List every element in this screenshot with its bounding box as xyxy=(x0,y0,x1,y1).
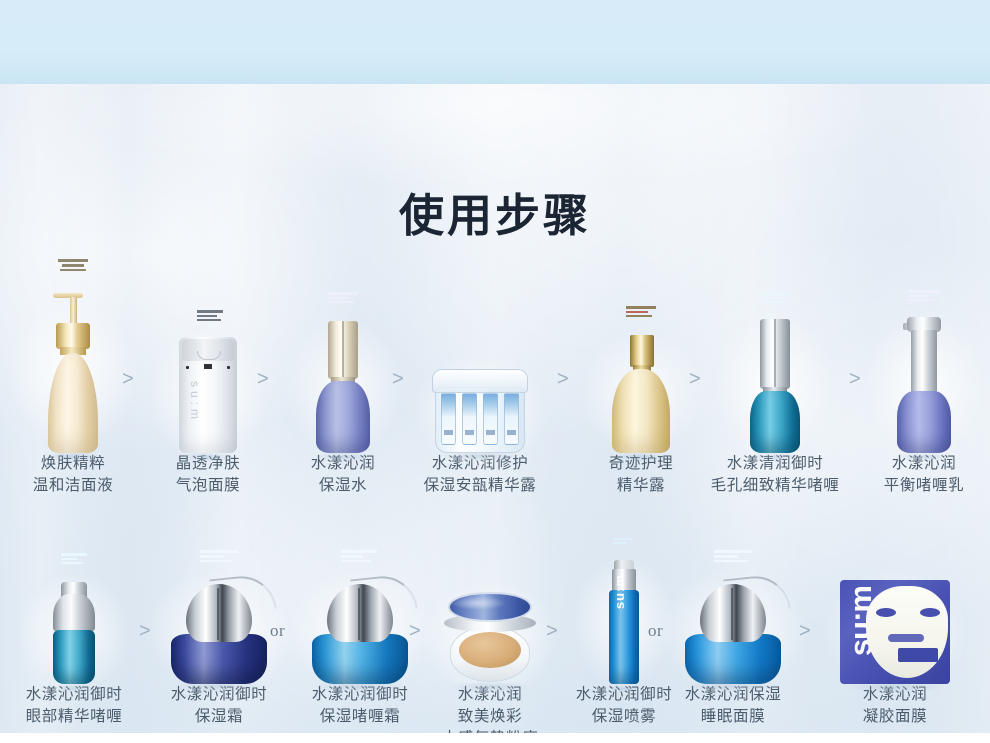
step-item-9[interactable]: 水漾沁润御时 保湿霜 xyxy=(152,534,286,728)
step-item-2[interactable]: su:m 晶透净肤 气泡面膜 xyxy=(143,281,273,497)
step-connector-arrow-1: > xyxy=(122,369,134,389)
step-connector-arrow-2: > xyxy=(257,369,269,389)
step-caption-line2: 凝胶面膜 xyxy=(820,706,970,728)
step-caption-line2: 毛孔细致精华啫喱 xyxy=(705,475,845,497)
step-caption-line2: 保湿霜 xyxy=(152,706,286,728)
step-caption-line2: 气泡面膜 xyxy=(143,475,273,497)
step-item-7[interactable]: 水漾沁润 平衡啫喱乳 xyxy=(862,281,986,497)
step-caption-line2: 保湿安瓿精华露 xyxy=(412,475,548,497)
step-connector-arrow-13: > xyxy=(799,621,811,641)
product-image-moisture-mist: su:m xyxy=(607,560,641,684)
product-image-ampoule-jar xyxy=(432,369,528,453)
step-connector-arrow-4: > xyxy=(557,369,569,389)
step-caption-line2: 致美焕彩 xyxy=(425,706,555,728)
usage-steps-page: 使用步骤 xyxy=(0,0,990,743)
step-item-4[interactable]: 水漾沁润修护 保湿安瓿精华露 xyxy=(412,281,548,497)
product-image-eye-serum-gel xyxy=(49,582,99,684)
step-item-5[interactable]: 奇迹护理 精华露 xyxy=(578,281,704,497)
product-image-balancing-gel-lotion xyxy=(892,317,956,453)
product-image-miracle-essence xyxy=(611,335,671,453)
step-caption-line2: 温和洁面液 xyxy=(8,475,138,497)
step-caption-line3: 水感气垫粉底 xyxy=(425,728,555,733)
step-caption-line2: 眼部精华啫喱 xyxy=(4,706,144,728)
step-caption-line2: 保湿啫喱霜 xyxy=(291,706,429,728)
step-connector-arrow-5: > xyxy=(689,369,701,389)
page-title: 使用步骤 xyxy=(0,189,990,243)
step-item-8[interactable]: 水漾沁润御时 眼部精华啫喱 xyxy=(4,534,144,728)
product-image-bubble-mask: su:m xyxy=(179,337,237,453)
content-stage: 使用步骤 xyxy=(0,84,990,733)
product-image-cleanser xyxy=(36,293,110,453)
product-image-pore-serum-gel xyxy=(747,319,803,453)
step-item-1[interactable]: 焕肤精粹 温和洁面液 xyxy=(8,281,138,497)
product-image-moisture-cream xyxy=(167,578,271,684)
product-image-gel-sheet-mask: su:m xyxy=(840,580,950,684)
product-image-moisture-gel-cream xyxy=(308,578,412,684)
step-item-13[interactable]: 水漾沁润保湿 睡眠面膜 xyxy=(663,534,803,728)
step-caption-line2: 精华露 xyxy=(578,475,704,497)
step-item-3[interactable]: 水漾沁润 保湿水 xyxy=(278,281,408,497)
step-connector-arrow-11: > xyxy=(546,621,558,641)
top-banner-band xyxy=(0,0,990,84)
steps-row-2: 水漾沁润御时 眼部精华啫喱 > xyxy=(0,534,990,733)
product-brand-text: su:m xyxy=(612,574,627,609)
step-caption-line2: 平衡啫喱乳 xyxy=(862,475,986,497)
product-image-toner xyxy=(312,321,374,453)
step-connector-arrow-6: > xyxy=(849,369,861,389)
step-connector-arrow-3: > xyxy=(392,369,404,389)
step-caption-line2: 保湿水 xyxy=(278,475,408,497)
product-brand-text: su:m xyxy=(188,381,202,423)
step-connector-or-9: or xyxy=(270,622,285,639)
step-item-6[interactable]: 水漾清润御时 毛孔细致精华啫喱 xyxy=(705,281,845,497)
product-image-cushion-foundation xyxy=(443,592,537,684)
product-image-sleeping-pack xyxy=(681,578,785,684)
step-item-14[interactable]: su:m 水漾沁润 凝胶面膜 xyxy=(820,534,970,728)
steps-row-1: 焕肤精粹 温和洁面液 > su:m xyxy=(0,281,990,511)
step-item-11[interactable]: 水漾沁润 致美焕彩 水感气垫粉底 xyxy=(425,534,555,733)
step-caption-line2: 睡眠面膜 xyxy=(663,706,803,728)
